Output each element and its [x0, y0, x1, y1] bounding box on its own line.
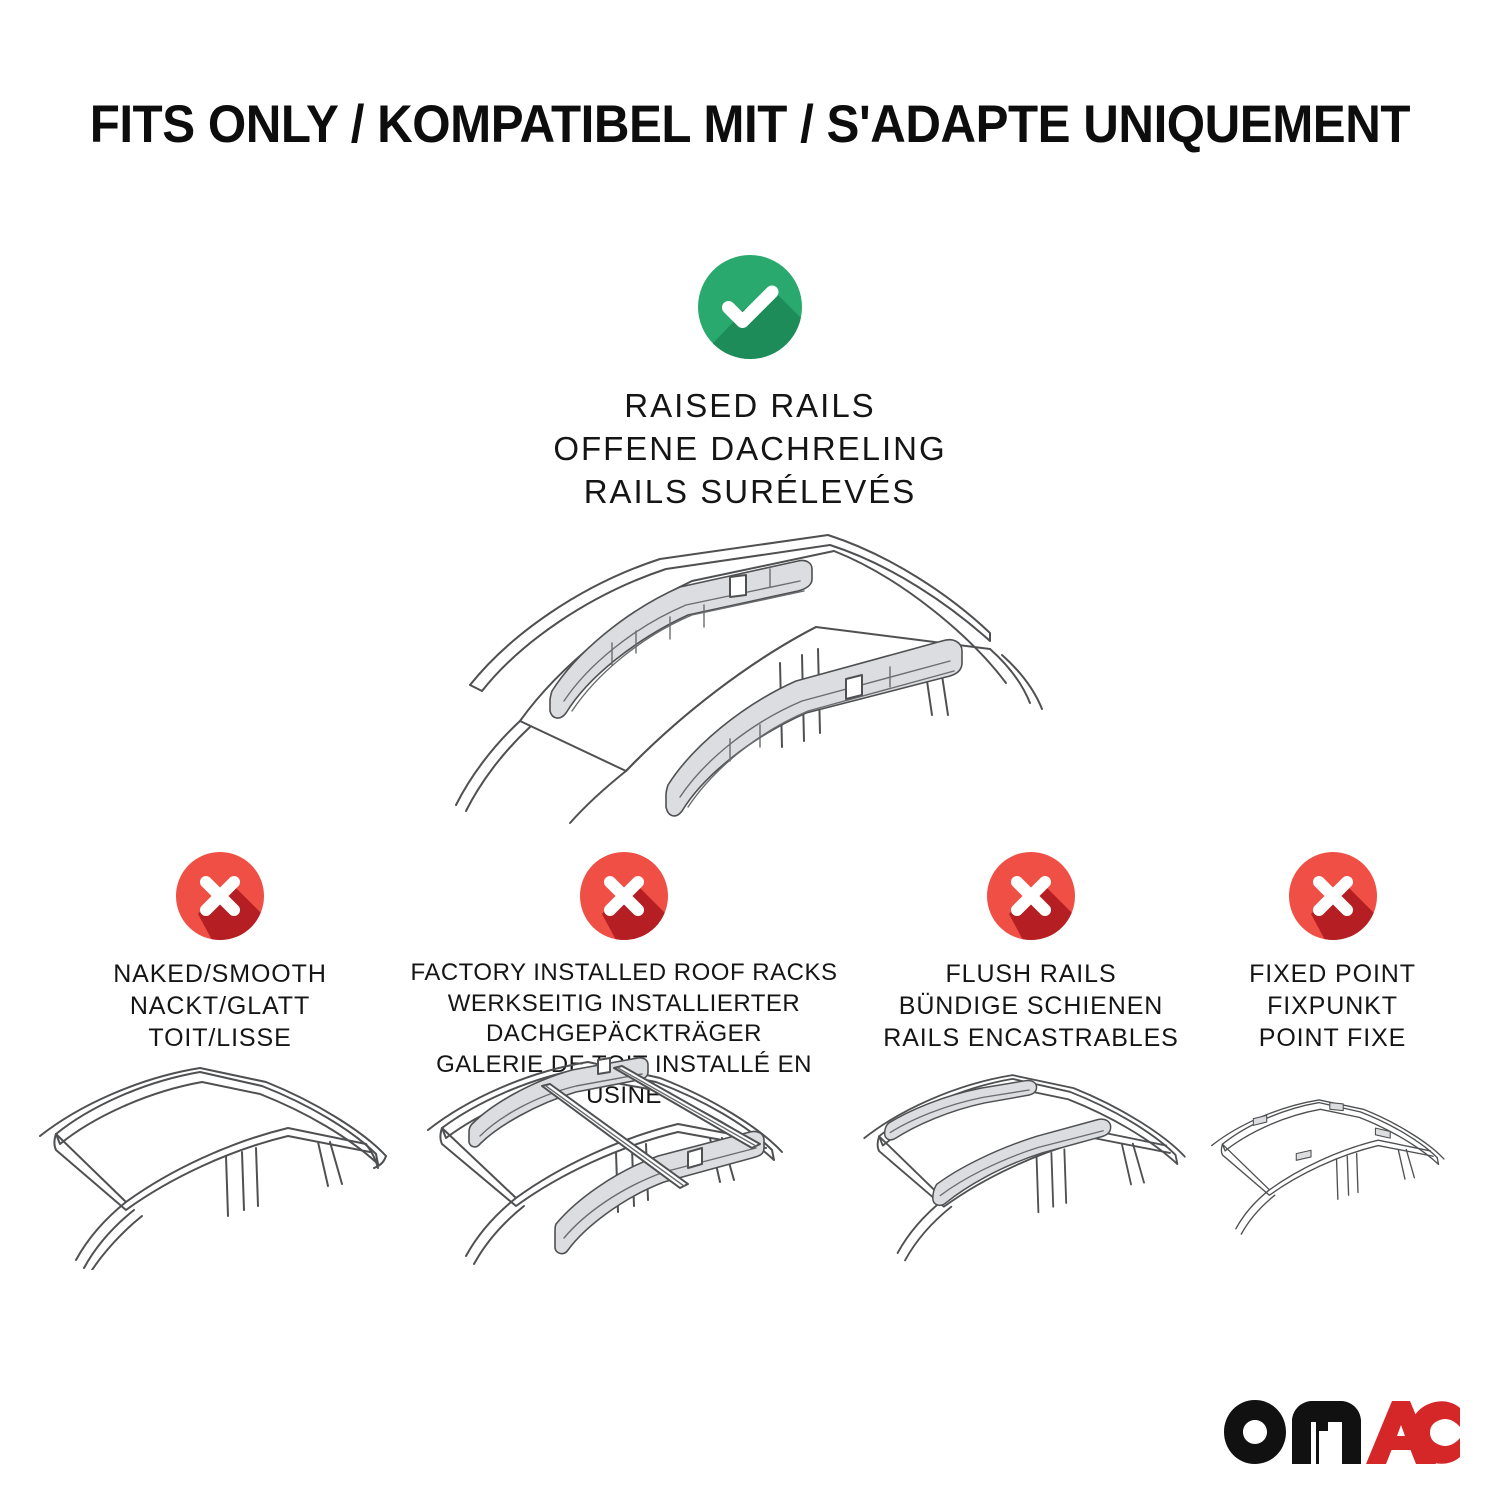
x-circle-icon [987, 852, 1075, 940]
x-circle-icon [580, 852, 668, 940]
naked-smooth-roof-diagram [30, 1060, 410, 1270]
compatible-label: RAISED RAILS OFFENE DACHRELING RAILS SUR… [0, 385, 1500, 514]
incompatible-column-flush-rails: FLUSH RAILS BÜNDIGE SCHIENEN RAILS ENCAS… [855, 852, 1207, 1054]
fixed-point-roof-diagram [1205, 1060, 1460, 1270]
check-mark-glyph [698, 255, 802, 359]
omac-logo-letter-m [1292, 1401, 1361, 1464]
incompatible-column-fixed-point: FIXED POINT FIXPUNKT POINT FIXE [1205, 852, 1460, 1054]
x-mark-glyph [1289, 852, 1377, 940]
factory-roof-rack-diagram [400, 1048, 848, 1270]
x-mark-glyph [580, 852, 668, 940]
incompatible-label-flush-rails: FLUSH RAILS BÜNDIGE SCHIENEN RAILS ENCAS… [855, 958, 1207, 1054]
incompatible-section: NAKED/SMOOTH NACKT/GLATT TOIT/LISSE [0, 852, 1500, 1302]
check-circle-icon [698, 255, 802, 359]
incompatible-label-fixed-point: FIXED POINT FIXPUNKT POINT FIXE [1205, 958, 1460, 1054]
raised-rails-roof-diagram [430, 515, 1070, 825]
x-mark-glyph [176, 852, 264, 940]
omac-logo-letter-o [1224, 1400, 1286, 1464]
x-circle-icon [1289, 852, 1377, 940]
x-mark-glyph [987, 852, 1075, 940]
page-header: FITS ONLY / KOMPATIBEL MIT / S'ADAPTE UN… [0, 98, 1500, 151]
compatible-section: RAISED RAILS OFFENE DACHRELING RAILS SUR… [0, 255, 1500, 514]
x-circle-icon [176, 852, 264, 940]
incompatible-column-factory-racks: FACTORY INSTALLED ROOF RACKS WERKSEITIG … [400, 852, 848, 1112]
omac-logo [1222, 1398, 1462, 1464]
page-title: FITS ONLY / KOMPATIBEL MIT / S'ADAPTE UN… [90, 98, 1410, 151]
incompatible-column-naked-smooth: NAKED/SMOOTH NACKT/GLATT TOIT/LISSE [30, 852, 410, 1054]
incompatible-label-naked-smooth: NAKED/SMOOTH NACKT/GLATT TOIT/LISSE [30, 958, 410, 1054]
flush-rails-roof-diagram [855, 1060, 1207, 1270]
